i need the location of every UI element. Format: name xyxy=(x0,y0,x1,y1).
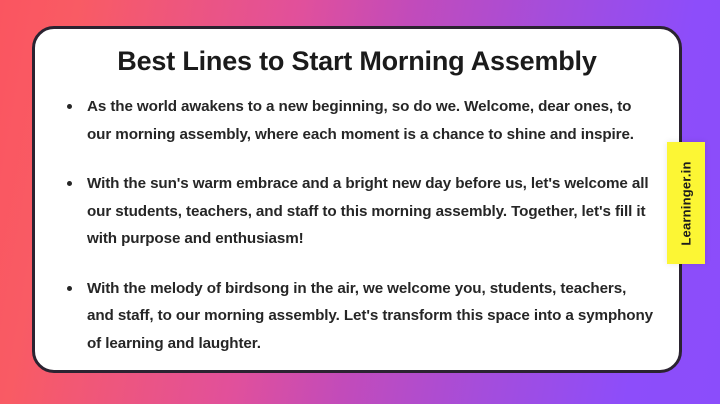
watermark-label: Learninger.in xyxy=(679,161,694,245)
list-item-text: As the world awakens to a new beginning,… xyxy=(87,98,634,143)
content-card: Best Lines to Start Morning Assembly As … xyxy=(32,26,682,373)
list-item: With the sun's warm embrace and a bright… xyxy=(61,170,653,253)
bullet-point-icon xyxy=(67,286,72,291)
poster-canvas: Best Lines to Start Morning Assembly As … xyxy=(0,0,720,404)
watermark-badge: Learninger.in xyxy=(667,142,705,264)
page-title: Best Lines to Start Morning Assembly xyxy=(61,43,653,79)
bullet-list: As the world awakens to a new beginning,… xyxy=(61,93,653,357)
list-item: As the world awakens to a new beginning,… xyxy=(61,93,653,148)
list-item-text: With the melody of birdsong in the air, … xyxy=(87,280,653,352)
list-item-text: With the sun's warm embrace and a bright… xyxy=(87,175,648,247)
list-item: With the melody of birdsong in the air, … xyxy=(61,275,653,358)
bullet-point-icon xyxy=(67,181,72,186)
bullet-point-icon xyxy=(67,104,72,109)
